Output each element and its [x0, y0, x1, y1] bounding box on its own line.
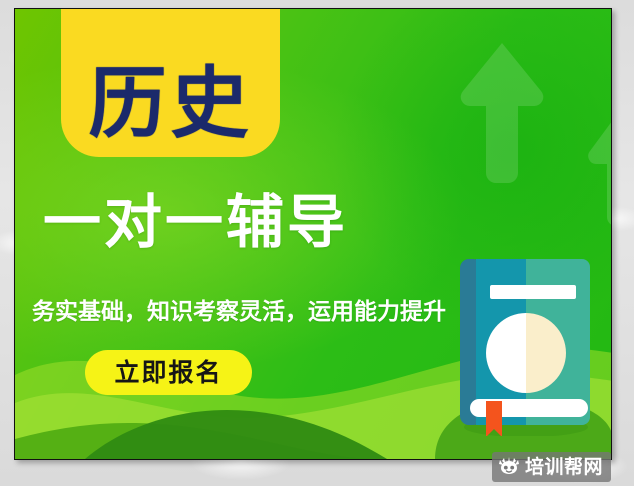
promo-banner-card: 历史 一对一辅导 务实基础，知识考察灵活，运用能力提升 立即报名	[14, 8, 612, 460]
signup-button[interactable]: 立即报名	[85, 350, 252, 395]
watermark-badge: 培训帮网	[492, 452, 611, 482]
signup-button-label: 立即报名	[114, 360, 222, 385]
page-title: 一对一辅导	[43, 193, 348, 251]
subject-badge-label: 历史	[88, 65, 252, 143]
mascot-icon	[498, 457, 520, 477]
banner-subtitle: 务实基础，知识考察灵活，运用能力提升	[32, 298, 446, 327]
up-arrow-icon	[459, 39, 545, 189]
up-arrow-icon	[587, 109, 612, 229]
subject-badge: 历史	[61, 8, 280, 157]
book-illustration	[456, 251, 596, 436]
watermark-text: 培训帮网	[525, 458, 603, 477]
